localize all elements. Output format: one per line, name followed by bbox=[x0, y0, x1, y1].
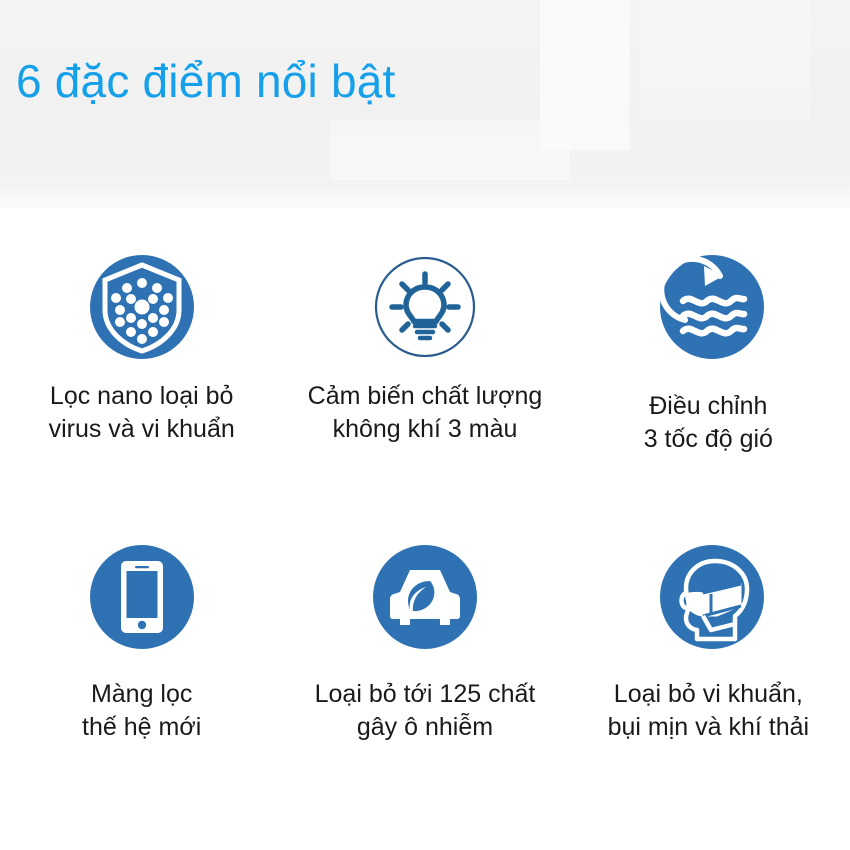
feature-item-nano-filter[interactable]: Lọc nano loại bỏ virus và vi khuẩn bbox=[0, 230, 283, 520]
feature-grid: Lọc nano loại bỏ virus và vi khuẩn bbox=[0, 230, 850, 810]
feature-label: Điều chỉnh 3 tốc độ gió bbox=[644, 390, 773, 456]
feature-label: Lọc nano loại bỏ virus và vi khuẩn bbox=[49, 380, 235, 446]
airflow-refresh-icon bbox=[657, 252, 767, 362]
feature-item-bacteria-removal[interactable]: Loại bỏ vi khuẩn, bụi mịn và khí thải bbox=[567, 520, 850, 810]
feature-label: Loại bỏ vi khuẩn, bụi mịn và khí thải bbox=[608, 678, 810, 744]
feature-highlights-page: 6 đặc điểm nổi bật bbox=[0, 0, 850, 850]
eco-car-icon bbox=[370, 542, 480, 652]
feature-item-fan-speed[interactable]: Điều chỉnh 3 tốc độ gió bbox=[567, 230, 850, 520]
face-mask-icon bbox=[657, 542, 767, 652]
header-background-shape-b bbox=[640, 0, 810, 120]
feature-label: Loại bỏ tới 125 chất gây ô nhiễm bbox=[315, 678, 536, 744]
header-background-shape-c bbox=[330, 120, 570, 180]
feature-item-pollutant-removal[interactable]: Loại bỏ tới 125 chất gây ô nhiễm bbox=[283, 520, 566, 810]
feature-item-air-quality-sensor[interactable]: Cảm biến chất lượng không khí 3 màu bbox=[283, 230, 566, 520]
lightbulb-icon bbox=[370, 252, 480, 362]
shield-dots-icon bbox=[87, 252, 197, 362]
feature-item-new-gen-filter[interactable]: Màng lọc thế hệ mới bbox=[0, 520, 283, 810]
feature-label: Cảm biến chất lượng không khí 3 màu bbox=[308, 380, 543, 446]
page-title: 6 đặc điểm nổi bật bbox=[16, 54, 396, 108]
smartphone-icon bbox=[87, 542, 197, 652]
feature-label: Màng lọc thế hệ mới bbox=[82, 678, 201, 744]
